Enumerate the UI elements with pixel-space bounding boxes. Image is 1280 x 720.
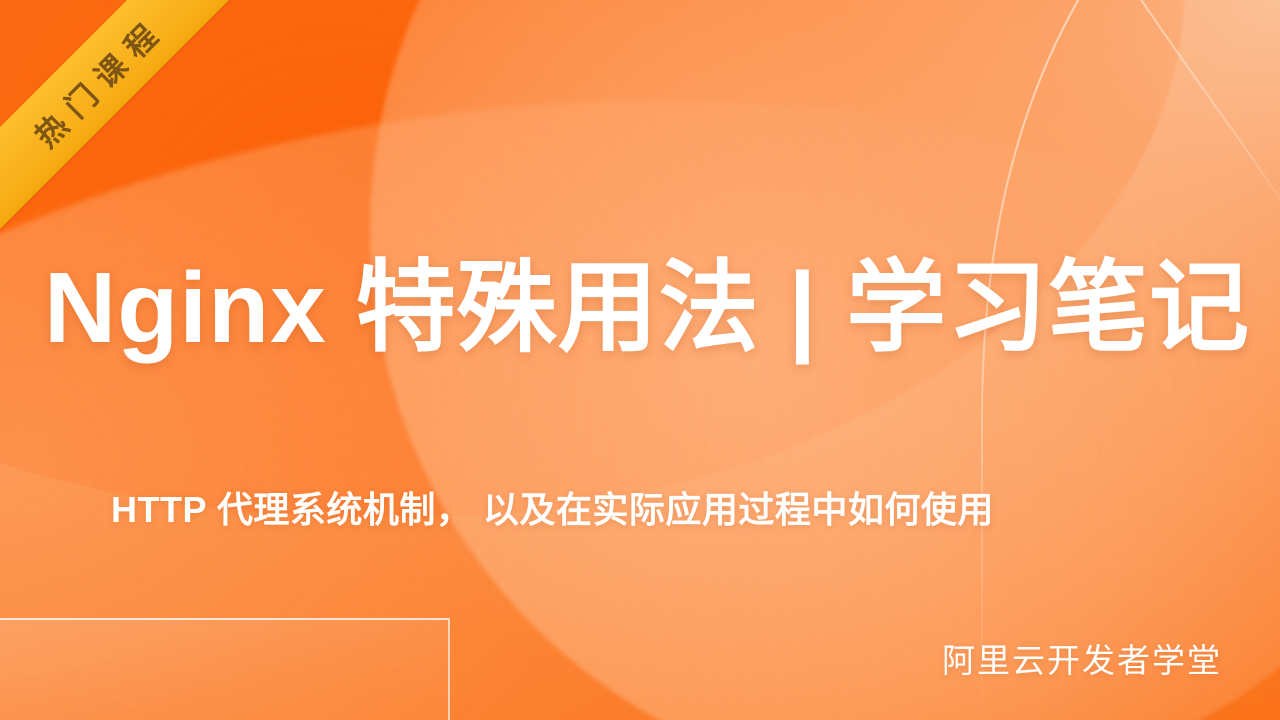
hot-course-badge-ribbon: 热门课程 [0, 0, 261, 251]
hot-course-badge-label: 热门课程 [15, 5, 173, 163]
page-subtitle: HTTP 代理系统机制， 以及在实际应用过程中如何使用 [111, 487, 1211, 534]
brand-name: 阿里云开发者学堂 [942, 634, 1222, 682]
page-title: Nginx 特殊用法 | 学习笔记 [44, 254, 1244, 362]
hot-course-badge: 热门课程 [0, 0, 280, 280]
background-glass-panel [0, 618, 450, 720]
course-cover-card: 热门课程 Nginx 特殊用法 | 学习笔记 HTTP 代理系统机制， 以及在实… [0, 0, 1280, 720]
